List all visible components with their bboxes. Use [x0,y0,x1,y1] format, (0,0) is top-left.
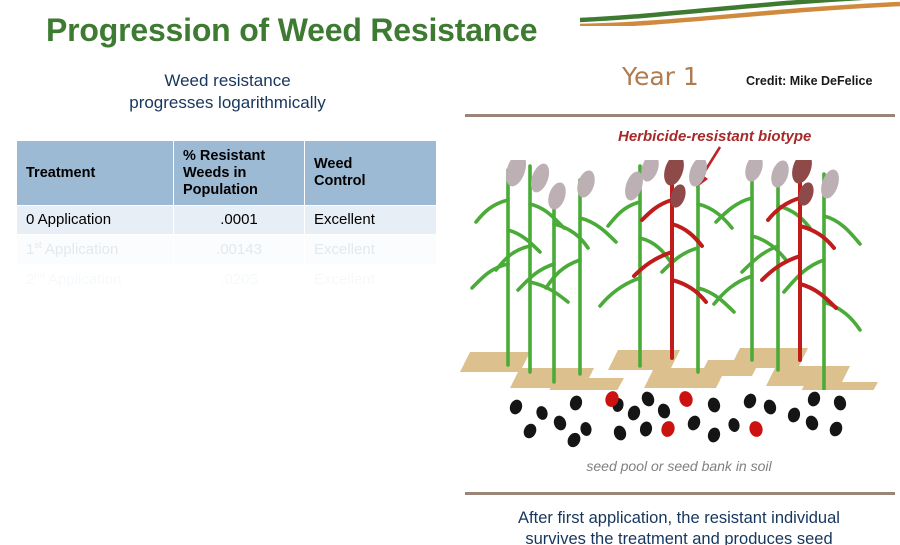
column-header-treatment-label: Treatment [26,165,95,181]
biotype-annotation-label: Herbicide-resistant biotype [618,128,811,145]
seed-pool-illustration [458,385,900,450]
control-header-line-1: Weed [314,156,352,172]
cell-treatment: 0 Application [17,206,174,235]
bottom-caption: After first application, the resistant i… [458,508,900,545]
subtitle-line-1: Weed resistance [60,70,395,92]
treatment-rest: Application [42,241,119,258]
column-header-treatment: Treatment [17,141,174,206]
credit-label: Credit: Mike DeFelice [746,74,872,88]
slide-canvas: Progression of Weed Resistance Weed resi… [0,0,900,545]
divider-top [465,114,895,117]
cell-treatment: 2nd Application [17,265,174,295]
bottom-caption-line-1: After first application, the resistant i… [458,508,900,529]
seed-pool-caption: seed pool or seed bank in soil [458,458,900,474]
year-label: Year 1 [622,62,699,91]
cell-percent: .0001 [174,206,305,235]
seeds-black [508,390,848,450]
table-row: 2nd Application .0205 Excellent [17,265,437,295]
plant-illustration [458,160,900,390]
percent-header-line-2: Weeds in [183,165,246,181]
cell-percent: .00143 [174,235,305,265]
column-header-weed-control: Weed Control [305,141,437,206]
resistance-table: Treatment % Resistant Weeds in Populatio… [16,140,437,295]
percent-header-line-3: Population [183,182,258,198]
subtitle: Weed resistance progresses logarithmical… [0,70,455,115]
cell-treatment: 1st Application [17,235,174,265]
divider-bottom [465,492,895,495]
bottom-caption-line-2: survives the treatment and produces seed [458,529,900,545]
control-header-line-2: Control [314,173,366,189]
treatment-ordinal-suffix: nd [34,270,44,280]
left-column: Weed resistance progresses logarithmical… [0,70,455,115]
seeds-resistant-red [603,389,764,438]
treatment-rest: Application [45,271,122,288]
percent-header-line-1: % Resistant [183,148,265,164]
table-row: 0 Application .0001 Excellent [17,206,437,235]
cell-control: Excellent [305,265,437,295]
right-panel: Year 1 Credit: Mike DeFelice Herbicide-r… [458,0,900,545]
table-header-row: Treatment % Resistant Weeds in Populatio… [17,141,437,206]
table-row: 1st Application .00143 Excellent [17,235,437,265]
cell-control: Excellent [305,235,437,265]
cell-control: Excellent [305,206,437,235]
cell-percent: .0205 [174,265,305,295]
subtitle-line-2: progresses logarithmically [60,92,395,114]
column-header-percent-resistant: % Resistant Weeds in Population [174,141,305,206]
soil-patches [460,348,878,390]
treatment-ordinal-suffix: st [34,240,41,250]
